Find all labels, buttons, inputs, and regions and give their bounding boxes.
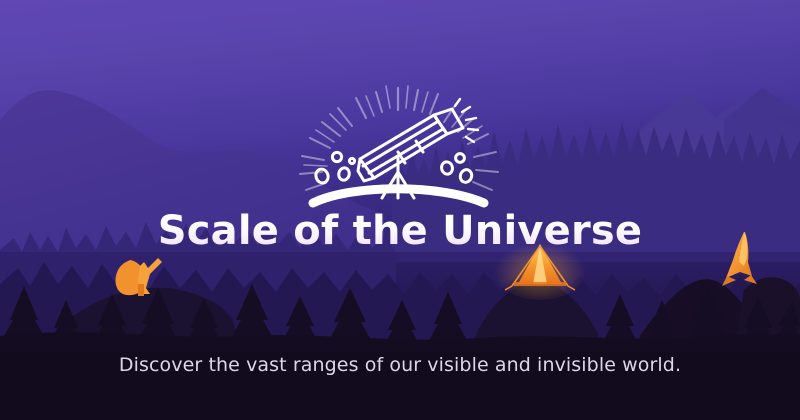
ground-fade xyxy=(0,352,800,420)
hero-banner: Scale of the Universe Discover the vast … xyxy=(0,0,800,420)
scene-illustration xyxy=(0,0,800,420)
